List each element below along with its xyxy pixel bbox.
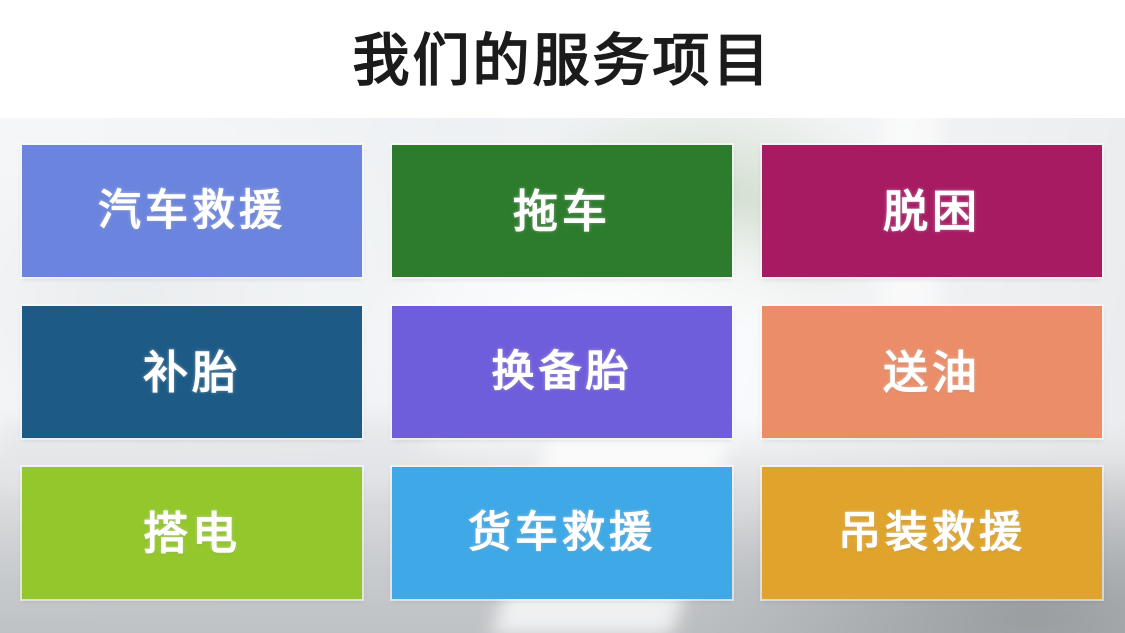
tile-extrication[interactable]: 脱困 [762, 145, 1102, 277]
tile-crane-rescue[interactable]: 吊装救援 [762, 467, 1102, 599]
tile-tire-repair[interactable]: 补胎 [22, 306, 362, 438]
tile-jump-start[interactable]: 搭电 [22, 467, 362, 599]
tile-truck-rescue[interactable]: 货车救援 [392, 467, 732, 599]
tile-label: 搭电 [143, 511, 241, 556]
tile-label: 汽车救援 [98, 190, 286, 233]
tile-label: 补胎 [143, 350, 241, 395]
tile-roadside-assistance[interactable]: 汽车救援 [22, 145, 362, 277]
tile-label: 脱困 [883, 189, 981, 234]
tile-towing[interactable]: 拖车 [392, 145, 732, 277]
tile-fuel-delivery[interactable]: 送油 [762, 306, 1102, 438]
tile-label: 吊装救援 [838, 512, 1026, 555]
tile-label: 货车救援 [468, 512, 656, 555]
service-tile-grid: 汽车救援拖车脱困补胎换备胎送油搭电货车救援吊装救援 [22, 145, 1103, 600]
tile-label: 拖车 [513, 189, 611, 234]
tile-label: 换备胎 [492, 351, 633, 394]
title-area: 我们的服务项目 [0, 0, 1125, 122]
service-poster: 我们的服务项目 汽车救援拖车脱困补胎换备胎送油搭电货车救援吊装救援 [0, 0, 1125, 633]
tile-spare-tire-change[interactable]: 换备胎 [392, 306, 732, 438]
tile-label: 送油 [883, 350, 981, 395]
page-title: 我们的服务项目 [353, 33, 773, 90]
